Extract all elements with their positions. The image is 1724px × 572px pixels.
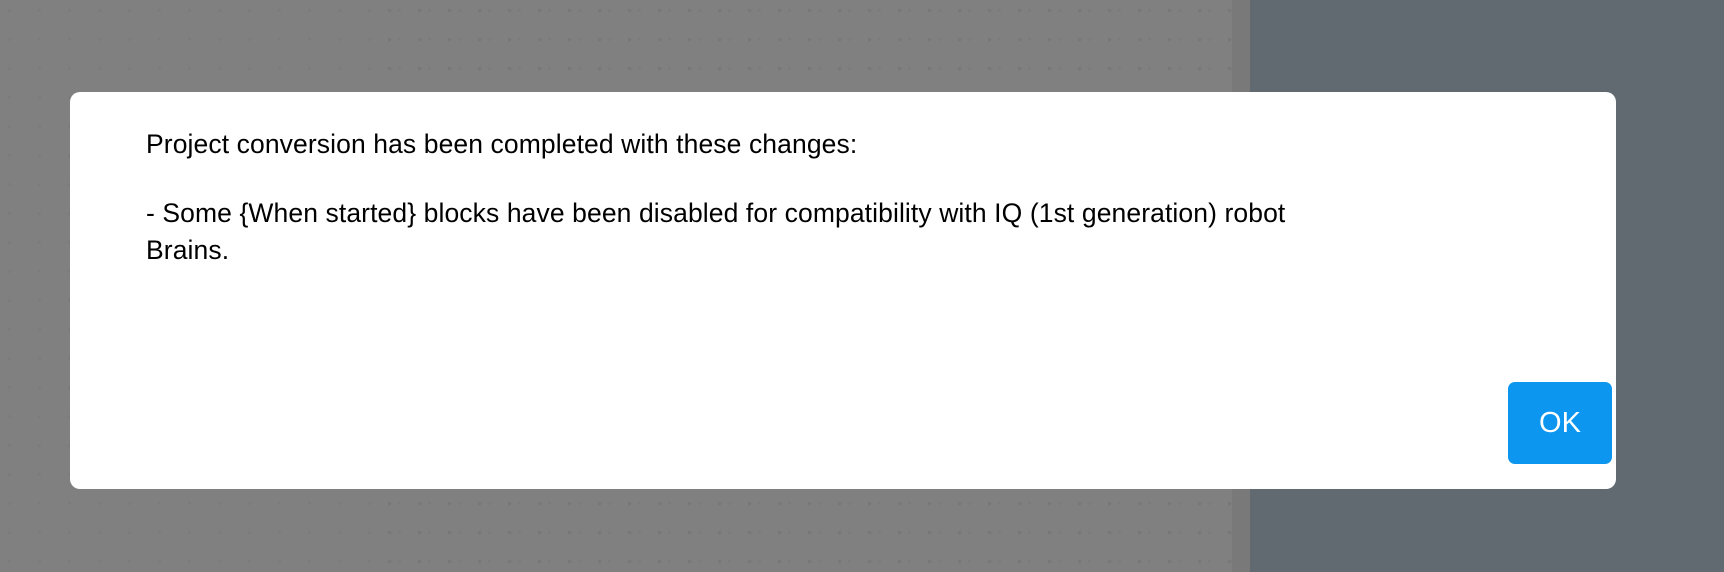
dialog-message-primary: Project conversion has been completed wi… (146, 126, 1556, 163)
ok-button[interactable]: OK (1508, 382, 1612, 464)
screen-root: Add a device Project conversion has been… (0, 0, 1724, 572)
project-conversion-dialog: Project conversion has been completed wi… (70, 92, 1616, 489)
dialog-message-body: Project conversion has been completed wi… (146, 126, 1556, 269)
dialog-message-secondary: - Some {When started} blocks have been d… (146, 195, 1376, 269)
dialog-actions: OK (146, 382, 1556, 464)
